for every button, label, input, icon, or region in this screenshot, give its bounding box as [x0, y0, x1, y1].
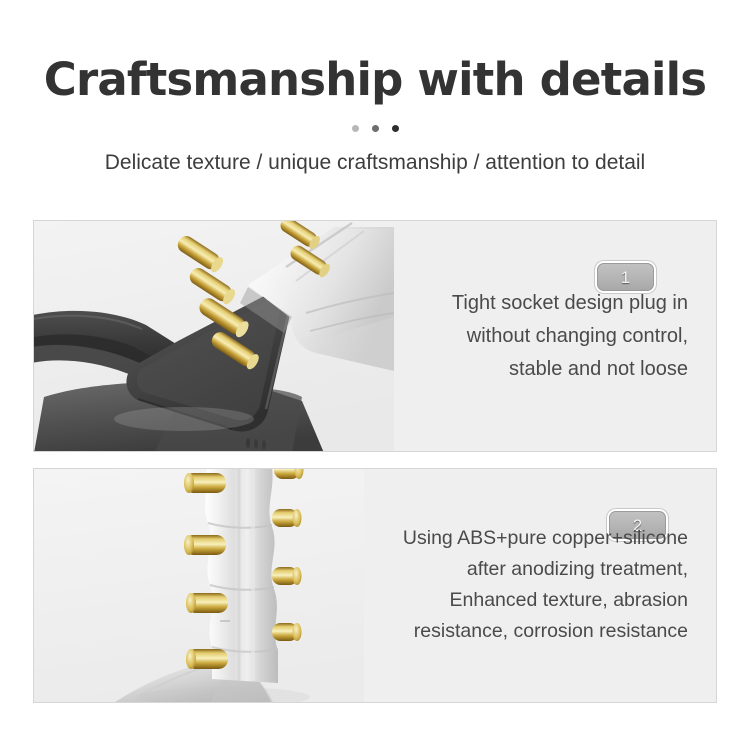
product-photo-gold-pins — [34, 469, 364, 702]
dot-dark-icon — [392, 125, 399, 132]
product-photo-socket-plug — [34, 221, 394, 451]
feature-2-line-3: Enhanced texture, abrasion — [338, 585, 688, 616]
feature-panel-2: 2 Using ABS+pure copper+silicone after a… — [33, 468, 717, 703]
feature-2-line-1: Using ABS+pure copper+silicone — [338, 523, 688, 554]
feature-2-line-4: resistance, corrosion resistance — [338, 616, 688, 647]
dot-medium-icon — [372, 125, 379, 132]
feature-2-line-2: after anodizing treatment, — [338, 554, 688, 585]
header: Craftsmanship with details Delicate text… — [0, 0, 750, 175]
feature-panel-1: 1 Tight socket design plug in without ch… — [33, 220, 717, 452]
dot-light-icon — [352, 125, 359, 132]
feature-text-1: Tight socket design plug in without chan… — [388, 287, 688, 386]
feature-1-line-2: without changing control, — [388, 320, 688, 353]
dot-separator — [0, 124, 750, 133]
product-detail-page: Craftsmanship with details Delicate text… — [0, 0, 750, 750]
feature-text-2: Using ABS+pure copper+silicone after ano… — [338, 523, 688, 647]
page-subtitle: Delicate texture / unique craftsmanship … — [0, 150, 750, 175]
page-title: Craftsmanship with details — [0, 56, 750, 105]
feature-1-line-3: stable and not loose — [388, 353, 688, 386]
step-badge-1-number: 1 — [621, 269, 630, 286]
feature-1-line-1: Tight socket design plug in — [388, 287, 688, 320]
